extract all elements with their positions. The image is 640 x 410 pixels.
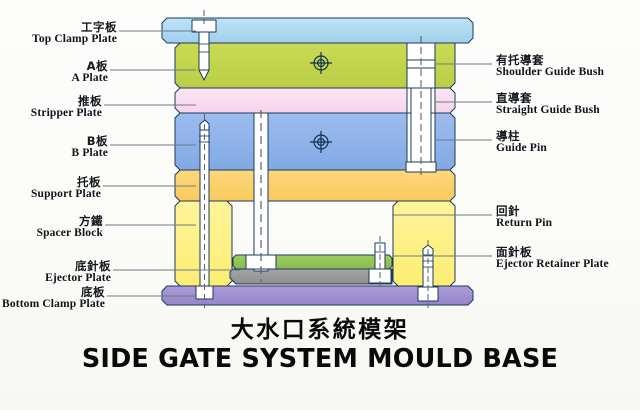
label-en: A Plate xyxy=(0,72,108,84)
label-bottom-clamp-plate: 底板 Bottom Clamp Plate xyxy=(0,286,105,311)
support-plate xyxy=(175,170,455,201)
top-screw-shaft xyxy=(199,32,209,70)
label-shoulder-guide-bush: 有托導套 Shoulder Guide Bush xyxy=(496,54,604,79)
label-cn: 回針 xyxy=(496,205,552,217)
label-en: Top Clamp Plate xyxy=(0,33,117,45)
label-ejector-retainer-plate: 面針板 Ejector Retainer Plate xyxy=(496,246,609,271)
label-cn: 推板 xyxy=(0,95,102,107)
label-en: Shoulder Guide Bush xyxy=(496,66,604,78)
label-cn: 托板 xyxy=(0,176,101,188)
label-en: Bottom Clamp Plate xyxy=(0,298,105,310)
label-cn: 有托導套 xyxy=(496,54,604,66)
label-en: Ejector Plate xyxy=(0,272,111,284)
label-en: Straight Guide Bush xyxy=(496,104,600,116)
label-en: Ejector Retainer Plate xyxy=(496,258,609,270)
label-en: Stripper Plate xyxy=(0,107,102,119)
diagram-title: 大水口系統模架 SIDE GATE SYSTEM MOULD BASE xyxy=(0,318,640,373)
label-support-plate: 托板 Support Plate xyxy=(0,176,101,201)
label-en: Support Plate xyxy=(0,188,101,200)
label-cn: 面針板 xyxy=(496,246,609,258)
label-en: B Plate xyxy=(0,147,108,159)
label-guide-pin: 導柱 Guide Pin xyxy=(496,130,547,155)
label-cn: B板 xyxy=(0,135,108,147)
label-cn: 底針板 xyxy=(0,260,111,272)
label-cn: A板 xyxy=(0,60,108,72)
label-spacer-block: 方鐵 Spacer Block xyxy=(0,215,103,240)
label-cn: 導柱 xyxy=(496,130,547,142)
label-a-plate: A板 A Plate xyxy=(0,60,108,85)
label-ejector-plate: 底針板 Ejector Plate xyxy=(0,260,111,285)
label-en: Spacer Block xyxy=(0,227,103,239)
label-cn: 工字板 xyxy=(0,21,117,33)
label-en: Return Pin xyxy=(496,217,552,229)
label-straight-guide-bush: 直導套 Straight Guide Bush xyxy=(496,92,600,117)
title-english: SIDE GATE SYSTEM MOULD BASE xyxy=(0,345,640,373)
mould-base-diagram-page: 工字板 Top Clamp Plate A板 A Plate 推板 Stripp… xyxy=(0,0,640,410)
label-top-clamp-plate: 工字板 Top Clamp Plate xyxy=(0,21,117,46)
label-en: Guide Pin xyxy=(496,142,547,154)
title-chinese: 大水口系統模架 xyxy=(0,318,640,343)
label-stripper-plate: 推板 Stripper Plate xyxy=(0,95,102,120)
label-b-plate: B板 B Plate xyxy=(0,135,108,160)
label-cn: 方鐵 xyxy=(0,215,103,227)
label-return-pin: 回針 Return Pin xyxy=(496,205,552,230)
label-cn: 底板 xyxy=(0,286,105,298)
label-cn: 直導套 xyxy=(496,92,600,104)
